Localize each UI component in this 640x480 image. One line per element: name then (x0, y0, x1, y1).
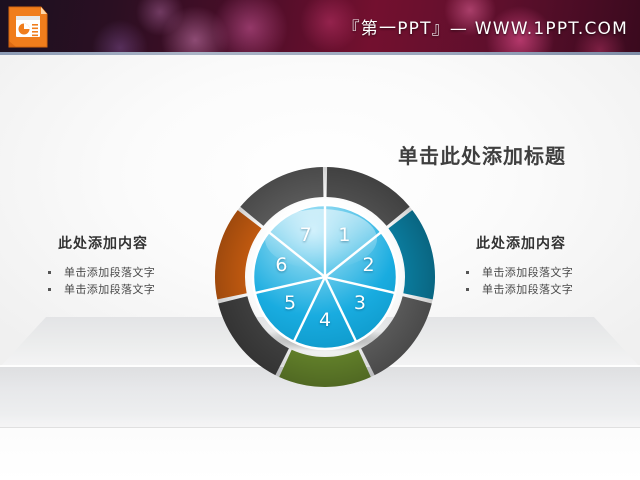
bullet-marker-icon (466, 271, 469, 274)
top-banner: 『第一PPT』— WWW.1PPT.COM (0, 0, 640, 55)
bullet-marker-icon (466, 288, 469, 291)
list-item: 单击添加段落文字 (452, 281, 632, 298)
brand-text: 『第一PPT』— WWW.1PPT.COM (338, 16, 628, 42)
bullet-text: 单击添加段落文字 (64, 283, 155, 296)
footer-bar: 第一PPT HTTP://WWW.1PPT.COM (0, 427, 640, 480)
bullet-text: 单击添加段落文字 (482, 283, 573, 296)
bullet-marker-icon (48, 271, 51, 274)
segmented-wheel-diagram[interactable]: 1234567 (203, 161, 447, 397)
list-item: 单击添加段落文字 (452, 264, 632, 281)
list-item: 单击添加段落文字 (34, 281, 214, 298)
powerpoint-logo-icon (7, 5, 49, 49)
bullet-marker-icon (48, 288, 51, 291)
slide-body: 单击此处添加标题 此处添加内容 单击添加段落文字 单击添加段落文字 此处添加内容 (0, 55, 640, 427)
ring-vignette (215, 167, 435, 387)
content-block-left: 此处添加内容 单击添加段落文字 单击添加段落文字 (34, 233, 214, 298)
slide-canvas: 『第一PPT』— WWW.1PPT.COM 单击此处添加标题 此处添加内容 单击… (0, 0, 640, 480)
bullet-list-left: 单击添加段落文字 单击添加段落文字 (34, 264, 214, 298)
stage-floor-fade (0, 415, 640, 427)
bullet-text: 单击添加段落文字 (64, 266, 155, 279)
wheel-svg (203, 161, 447, 397)
bullet-list-right: 单击添加段落文字 单击添加段落文字 (452, 264, 632, 298)
content-heading-left: 此处添加内容 (34, 233, 214, 253)
content-block-right: 此处添加内容 单击添加段落文字 单击添加段落文字 (452, 233, 632, 298)
list-item: 单击添加段落文字 (34, 264, 214, 281)
bullet-text: 单击添加段落文字 (482, 266, 573, 279)
content-heading-right: 此处添加内容 (452, 233, 632, 253)
